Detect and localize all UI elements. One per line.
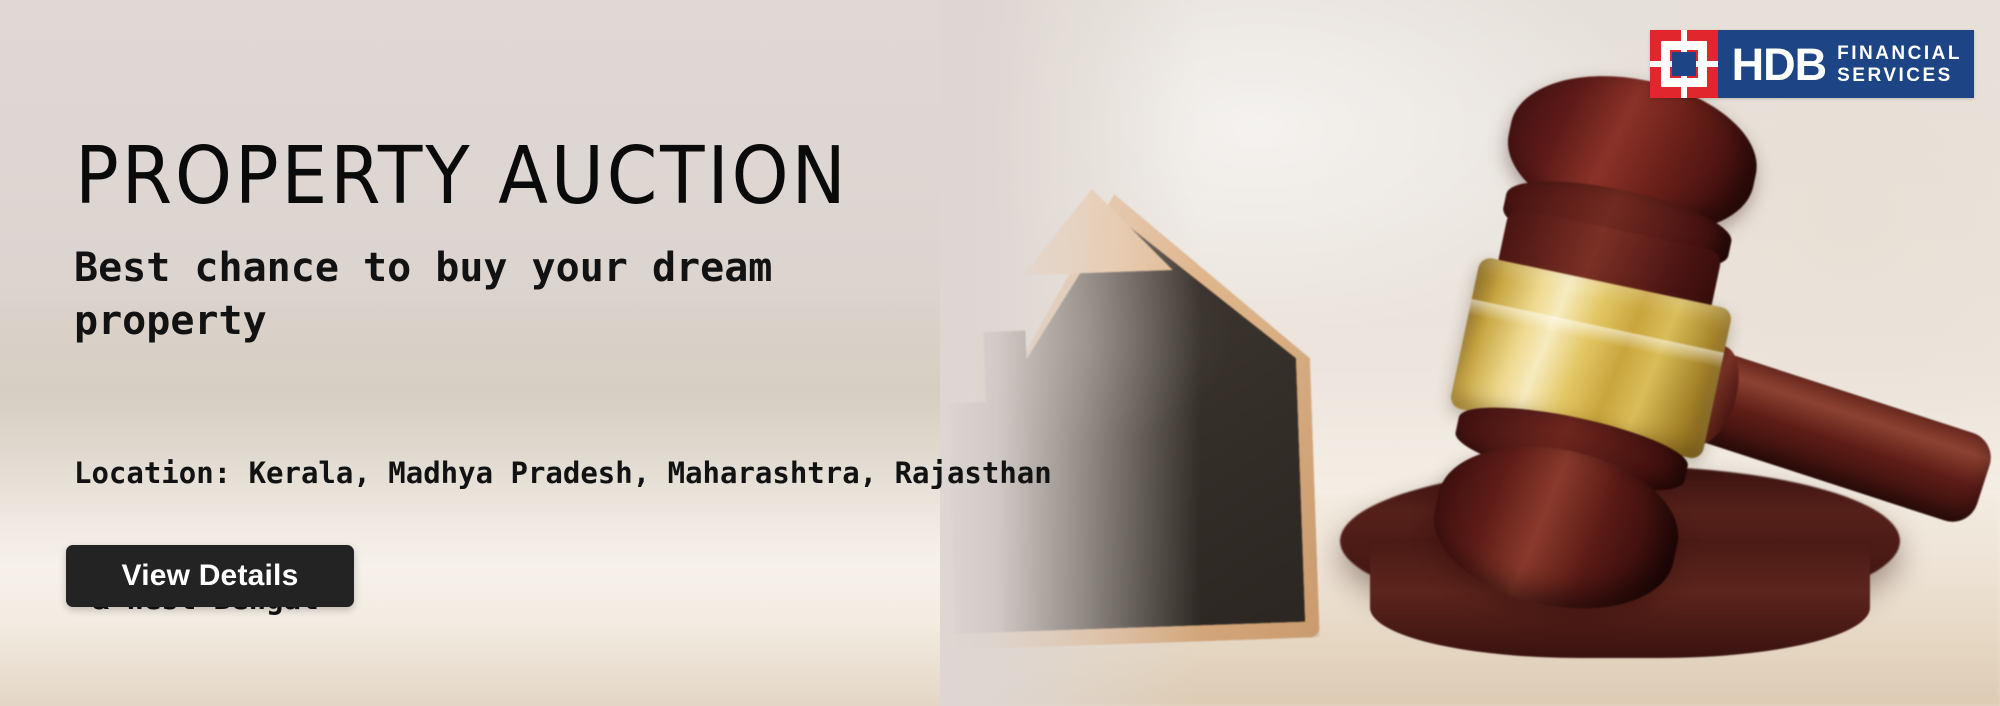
logo-tagline-line-1: FINANCIAL	[1837, 44, 1962, 63]
hdb-financial-services-logo[interactable]: HDB FINANCIAL SERVICES	[1650, 30, 1974, 98]
banner-details: Location: Kerala, Madhya Pradesh, Mahara…	[74, 368, 1214, 706]
page-title: PROPERTY AUCTION	[75, 137, 849, 216]
logo-wordmark: HDB	[1732, 42, 1827, 87]
logo-text-panel: HDB FINANCIAL SERVICES	[1718, 30, 1974, 98]
logo-tagline-line-2: SERVICES	[1837, 66, 1962, 85]
hdb-logo-mark-icon	[1650, 30, 1718, 98]
banner-subheadline: Best chance to buy your dream property	[74, 242, 974, 348]
logo-tagline: FINANCIAL SERVICES	[1837, 44, 1962, 85]
logo-center-square	[1672, 52, 1696, 76]
view-details-button[interactable]: View Details	[66, 545, 354, 607]
location-line-1: Location: Kerala, Madhya Pradesh, Mahara…	[74, 452, 1214, 494]
gavel-icon	[1410, 46, 1970, 606]
property-auction-banner: HDB FINANCIAL SERVICES PROPERTY AUCTION …	[0, 0, 2000, 706]
banner-copy: PROPERTY AUCTION Best chance to buy your…	[0, 0, 1200, 706]
